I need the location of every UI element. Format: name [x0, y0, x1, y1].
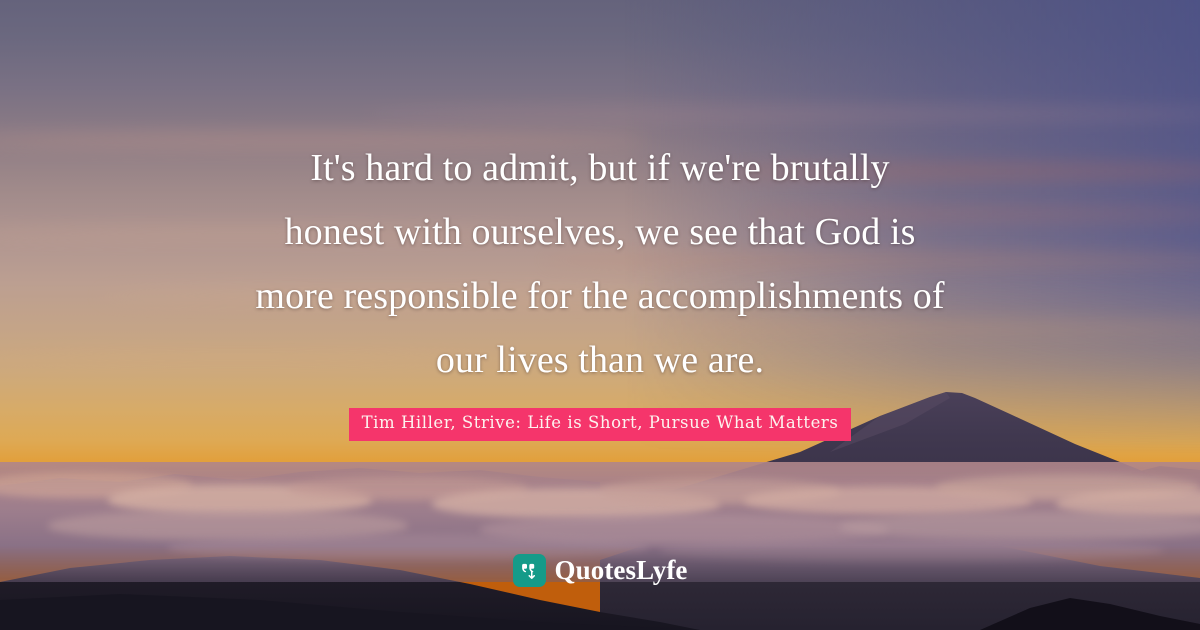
quote-text: It's hard to admit, but if we're brutall… — [0, 136, 1200, 392]
quote-line: honest with ourselves, we see that God i… — [150, 200, 1050, 264]
attribution-banner: Tim Hiller, Strive: Life is Short, Pursu… — [349, 408, 852, 441]
quote-line: more responsible for the accomplishments… — [150, 264, 1050, 328]
quote-card: It's hard to admit, but if we're brutall… — [0, 0, 1200, 630]
quote-line: It's hard to admit, but if we're brutall… — [150, 136, 1050, 200]
brand-name: QuotesLyfe — [555, 555, 688, 586]
quote-line: our lives than we are. — [150, 328, 1050, 392]
brand-logo[interactable]: QuotesLyfe — [0, 554, 1200, 587]
attribution-container: Tim Hiller, Strive: Life is Short, Pursu… — [0, 408, 1200, 441]
quote-mark-icon — [513, 554, 546, 587]
